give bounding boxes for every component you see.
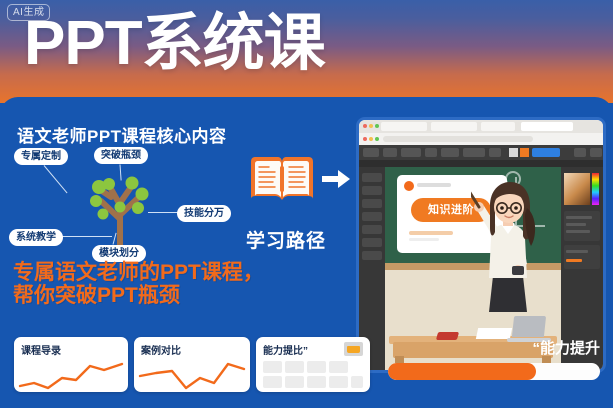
hue-slider: [592, 173, 599, 205]
stat-card-title: 能力提比”: [263, 342, 308, 357]
browser-tab: [431, 122, 477, 131]
brand-logo-icon: [404, 181, 414, 191]
browser-url-bar: [359, 133, 603, 145]
stat-card-0[interactable]: 课程导录: [14, 337, 128, 392]
content-panel: 语文老师PPT课程核心内容: [0, 97, 613, 408]
logo-text-placeholder: [417, 183, 451, 187]
progress-bar[interactable]: [388, 363, 600, 380]
stat-card-title: 案例对比: [141, 342, 181, 357]
leader-line: [44, 165, 68, 193]
color-picker-swatch: [564, 173, 590, 205]
headline-line-1: 专属语文老师的PPT课程，: [13, 260, 264, 285]
poster-root: AI生成 PPT系统课 语文老师PPT课程核心内容: [0, 0, 613, 408]
tree-label-3: 系统教学: [9, 229, 63, 246]
book-on-desk: [436, 332, 459, 340]
tree-diagram: 专属定制 突破瓶颈 技能分万 系统教学 模块划分: [0, 145, 250, 255]
slide-text-line: [409, 238, 439, 241]
open-book-icon: [247, 152, 317, 207]
desk-body: [393, 342, 553, 358]
browser-tab-active: [521, 122, 573, 131]
browser-tab: [381, 122, 427, 131]
browser-tab: [481, 122, 515, 131]
url-field: [383, 136, 533, 142]
stat-card-2[interactable]: 能力提比”: [256, 337, 370, 392]
headline-line-2: 帮你突破PPT瓶颈: [13, 283, 180, 308]
slide-text-line: [409, 231, 453, 235]
folder-icon: [344, 342, 363, 356]
arrow-right-icon: [322, 170, 350, 188]
tree-label-2: 技能分万: [177, 205, 231, 222]
stat-card-1[interactable]: 案例对比: [134, 337, 250, 392]
browser-chrome: [359, 120, 603, 133]
tree-label-1: 突破瓶颈: [94, 147, 148, 164]
editor-toolbar: [359, 145, 603, 160]
poster-header: AI生成 PPT系统课: [0, 0, 613, 103]
section-title: 语文老师PPT课程核心内容: [17, 122, 227, 147]
progress-fill: [388, 363, 536, 380]
learning-path-label: 学习路径: [246, 226, 326, 253]
page-title: PPT系统课: [24, 8, 325, 80]
tree-label-0: 专属定制: [14, 148, 68, 165]
progress-label: “能力提升: [532, 337, 600, 358]
window-controls: [363, 124, 379, 128]
tree-icon: [75, 167, 165, 252]
stat-card-title: 课程导录: [21, 342, 61, 357]
editor-subbar: [359, 160, 603, 167]
teacher-illustration: [471, 180, 545, 330]
line-chart-1: [134, 356, 250, 392]
line-chart-0: [14, 356, 128, 392]
nav-dots: [363, 137, 379, 141]
app-window-illustration: 知识进阶: [356, 117, 606, 373]
